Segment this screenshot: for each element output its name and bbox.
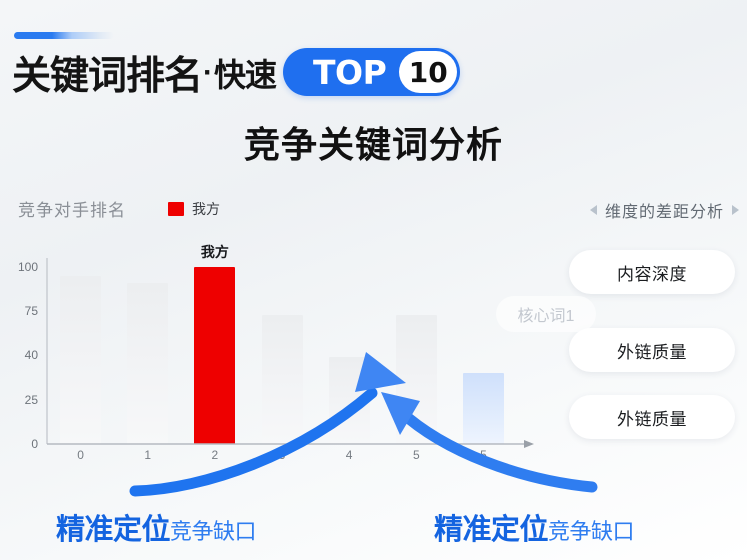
dimension-card-label: 外链质量 (617, 405, 687, 430)
chart-legend: 我方 (168, 199, 220, 219)
headline-separator: · (202, 56, 214, 90)
top-badge-circle: 10 (399, 51, 457, 93)
caption-right-small: 竞争缺口 (548, 514, 634, 546)
y-tick-label: 25 (0, 393, 38, 407)
x-tick-label: 4 (346, 448, 353, 462)
x-tick-label: 2 (212, 448, 219, 462)
top-badge-number: 10 (409, 56, 448, 89)
bar-series: 我方 (47, 258, 517, 444)
legend-label: 我方 (192, 199, 220, 219)
top-badge-word: TOP (313, 53, 386, 92)
x-tick-label: 3 (279, 448, 286, 462)
bar-2-2[interactable]: 我方 (194, 267, 235, 444)
y-tick-label: 40 (0, 348, 38, 362)
bar-chart: 1007540250 我方 0123455 (0, 236, 560, 466)
chevron-left-icon[interactable] (590, 205, 597, 215)
page-title-text: 竞争关键词分析 (244, 125, 503, 166)
bar-0-0[interactable] (60, 276, 101, 444)
x-tick-label: 1 (144, 448, 151, 462)
y-tick-label: 0 (0, 437, 38, 451)
accent-bar (14, 32, 114, 39)
caption-left-big: 精准定位 (56, 506, 170, 548)
dimension-card-label: 内容深度 (617, 260, 687, 285)
bar-5-5[interactable] (396, 315, 437, 444)
chart-title: 竞争对手排名 (18, 196, 126, 221)
caption-left-small: 竞争缺口 (170, 514, 256, 546)
y-tick-label: 75 (0, 304, 38, 318)
page-title: 竞争关键词分析 (0, 116, 747, 168)
caption-right: 精准定位 竞争缺口 (434, 506, 634, 548)
panel-title: 维度的差距分析 (605, 198, 724, 222)
y-tick-label: 100 (0, 260, 38, 274)
chevron-right-icon[interactable] (732, 205, 739, 215)
bar-1-1[interactable] (127, 283, 168, 444)
top-badge[interactable]: TOP 10 (283, 48, 460, 96)
dimension-card-label: 外链质量 (617, 338, 687, 363)
caption-left: 精准定位 竞争缺口 (56, 506, 256, 548)
headline: 关键词排名 · 快速 (12, 46, 276, 100)
legend-swatch-icon (168, 202, 184, 216)
caption-right-big: 精准定位 (434, 506, 548, 548)
bar-5-6[interactable] (463, 373, 504, 444)
x-tick-label: 0 (77, 448, 84, 462)
panel-header: 维度的差距分析 (590, 198, 739, 222)
dimension-card-1[interactable]: 外链质量 (569, 328, 735, 372)
dimension-card-2[interactable]: 外链质量 (569, 395, 735, 439)
chart-header: 竞争对手排名 我方 (18, 196, 220, 221)
bar-4-4[interactable] (329, 357, 370, 444)
x-tick-label: 5 (480, 448, 487, 462)
bar-highlight-label: 我方 (201, 242, 229, 262)
headline-sub: 快速 (214, 50, 276, 96)
headline-main: 关键词排名 (12, 45, 202, 101)
x-tick-label: 5 (413, 448, 420, 462)
bar-3-3[interactable] (262, 315, 303, 444)
dimension-card-0[interactable]: 内容深度 (569, 250, 735, 294)
